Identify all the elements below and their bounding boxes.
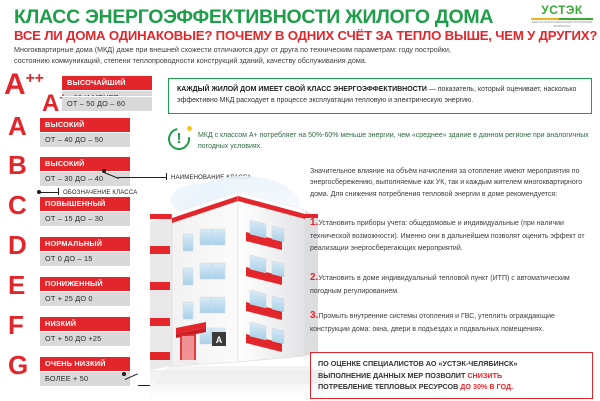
class-range-value: ОТ – 40 ДО – 50 [40,132,130,147]
logo-tagline: ЕДИНАЯ ТЕПЛОСНАБЖАЮЩАЯ ОРГАНИЗАЦИЯ ЧЕЛЯБ… [531,21,593,29]
class-row: ОТ – 50 ДО – 60 [62,96,152,111]
conclusion-highlight-1: СНИЗИТЬ [467,371,502,380]
class-row: ВЫСОКИЙОТ – 30 ДО – 40 [40,157,130,186]
class-range-value: БОЛЕЕ + 50 [40,371,130,386]
class-name-label: НИЗКИЙ [40,317,130,331]
svg-text:A: A [216,335,223,345]
class-letter-b: B [8,152,27,178]
class-row: ПОВЫШЕННЫЙОТ – 15 ДО – 30 [40,197,130,226]
class-range-value: ОТ + 25 ДО 0 [40,291,130,306]
page-subtitle: ВСЕ ЛИ ДОМА ОДИНАКОВЫЕ? ПОЧЕМУ В ОДНИХ С… [14,28,597,43]
class-row: ПОНИЖЕННЫЙОТ + 25 ДО 0 [40,277,130,306]
recommendations-intro: Значительное влияние на объём начисления… [310,166,593,200]
conclusion-line1: ПО ОЦЕНКЕ СПЕЦИАЛИСТОВ АО «УСТЭК-ЧЕЛЯБИН… [318,359,517,368]
class-letter-c: C [8,192,27,218]
class-range-value: ОТ – 50 ДО – 60 [62,96,152,111]
accent-dot-icon [187,126,192,131]
recommendation-item: 1.Установить приборы учета: общедомовые … [310,215,593,254]
class-letter-g: G [8,352,28,378]
callout-dot-2 [37,190,41,194]
callout-tick-2 [58,188,59,195]
definition-lead: КАЖДЫЙ ЖИЛОЙ ДОМ ИМЕЕТ СВОЙ КЛАСС ЭНЕРГО… [177,86,427,93]
class-letter-a: A [8,113,27,139]
callout-line-2 [40,192,58,193]
apartment-building-illustration: A [150,170,325,401]
conclusion-line2: ВЫПОЛНЕНИЕ ДАННЫХ МЕР ПОЗВОЛИТ [318,371,467,380]
exclamation-glyph: ! [177,131,182,146]
recommendation-text: Промыть внутренние системы отопления и Г… [310,313,555,333]
conclusion-line3: ПОТРЕБЛЕНИЕ ТЕПЛОВЫХ РЕСУРСОВ [318,382,460,391]
callout-class-mark: ОБОЗНАЧЕНИЕ КЛАССА [63,190,137,196]
class-name-label: ПОВЫШЕННЫЙ [40,197,130,211]
definition-box: КАЖДЫЙ ЖИЛОЙ ДОМ ИМЕЕТ СВОЙ КЛАСС ЭНЕРГО… [168,78,592,114]
logo-wordmark: УСТЭК [531,3,593,17]
class-name-label: ВЫСОКИЙ [40,118,130,132]
class-row: ОЧЕНЬ НИЗКИЙБОЛЕЕ + 50 [40,357,130,386]
conclusion-box: ПО ОЦЕНКЕ СПЕЦИАЛИСТОВ АО «УСТЭК-ЧЕЛЯБИН… [310,352,593,399]
class-name-label: ВЫСОЧАЙШИЙ [62,76,152,90]
note-text: МКД с классом А+ потребляет на 50%-60% м… [198,130,590,152]
class-letter-f: F [8,312,24,338]
class-row: НОРМАЛЬНЫЙОТ 0 ДО – 15 [40,237,130,266]
class-name-label: ВЫСОКИЙ [40,157,130,171]
logo-bar [531,18,593,20]
infographic-page: КЛАСС ЭНЕРГОЭФФЕКТИВНОСТИ ЖИЛОГО ДОМА ВС… [0,0,600,401]
class-range-value: ОТ – 15 ДО – 30 [40,211,130,226]
class-row: ВЫСОКИЙОТ – 40 ДО – 50 [40,118,130,147]
class-range-value: ОТ 0 ДО – 15 [40,251,130,266]
class-range-value: ОТ + 50 ДО +25 [40,331,130,346]
class-name-label: ПОНИЖЕННЫЙ [40,277,130,291]
callout-dot-3 [122,372,126,376]
page-title: КЛАСС ЭНЕРГОЭФФЕКТИВНОСТИ ЖИЛОГО ДОМА [14,6,493,29]
recommendation-item: 3.Промыть внутренние системы отопления и… [310,308,593,336]
conclusion-highlight-2: ДО 30% В ГОД. [460,382,513,391]
class-name-label: НОРМАЛЬНЫЙ [40,237,130,251]
class-row: НИЗКИЙОТ + 50 ДО +25 [40,317,130,346]
class-name-label: ОЧЕНЬ НИЗКИЙ [40,357,130,371]
recommendation-item: 2.Установить в доме индивидуальный тепло… [310,270,593,298]
ustek-logo: УСТЭК ЕДИНАЯ ТЕПЛОСНАБЖАЮЩАЯ ОРГАНИЗАЦИЯ… [531,3,593,29]
class-letter-d: D [8,232,27,258]
intro-paragraph: Многоквартирные дома (МКД) даже при внеш… [14,45,484,67]
class-letter-aplusplus: A++ [4,70,44,100]
recommendation-text: Установить приборы учета: общедомовые и … [310,220,585,252]
callout-dot-1 [102,169,106,173]
class-letter-e: E [8,272,25,298]
recommendation-text: Установить в доме индивидуальный теплово… [310,275,570,295]
